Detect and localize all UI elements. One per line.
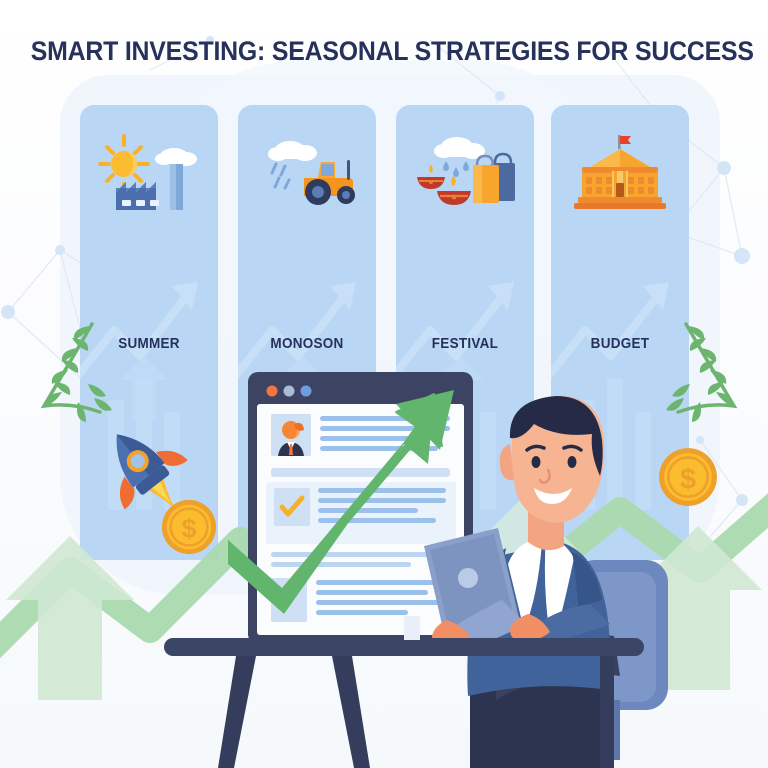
desk-and-person-scene	[0, 0, 768, 768]
tablet-home-button	[458, 568, 478, 588]
person-eye	[568, 456, 577, 468]
infographic-canvas: SMART INVESTING: SEASONAL STRATEGIES FOR…	[0, 0, 768, 768]
monitor-stand	[404, 616, 420, 640]
person-eye	[532, 456, 541, 468]
seated-investor	[424, 396, 620, 768]
